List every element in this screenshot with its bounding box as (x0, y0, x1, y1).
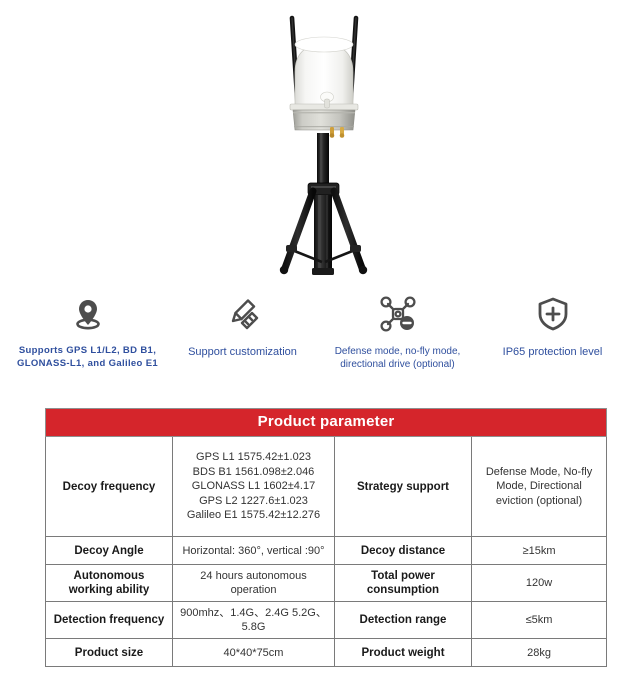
feature-ip65: IP65 protection level (475, 288, 630, 408)
location-pin-icon (66, 292, 110, 336)
feature-label: Supports GPS L1/L2, BD B1, GLONASS-L1, a… (13, 345, 163, 370)
spec-value: 120w (472, 565, 607, 602)
spec-key: Product weight (335, 639, 472, 667)
table-row: Decoy Angle Horizontal: 360°, vertical :… (46, 537, 607, 565)
feature-customization: Support customization (165, 288, 320, 408)
feature-label: Defense mode, no-fly mode, directional d… (323, 345, 473, 371)
tripod-legs (280, 191, 367, 274)
spec-value: 24 hours autonomous operation (173, 565, 335, 602)
spec-key: Total power consumption (335, 565, 472, 602)
table-row: Detection frequency 900mhz、1.4G、2.4G 5.2… (46, 602, 607, 639)
product-parameter-section: Product parameter Decoy frequency GPS L1… (0, 408, 640, 667)
spec-key: Detection frequency (46, 602, 173, 639)
table-row: Autonomous working ability 24 hours auto… (46, 565, 607, 602)
spec-value: ≤5km (472, 602, 607, 639)
spec-value: GPS L1 1575.42±1.023 BDS B1 1561.098±2.0… (173, 437, 335, 537)
spec-key: Decoy Angle (46, 537, 173, 565)
table-row: Decoy frequency GPS L1 1575.42±1.023 BDS… (46, 437, 607, 537)
spec-value: 900mhz、1.4G、2.4G 5.2G、5.8G (173, 602, 335, 639)
product-parameter-table: Product parameter Decoy frequency GPS L1… (45, 408, 607, 667)
spec-key: Decoy distance (335, 537, 472, 565)
radome (290, 37, 358, 138)
feature-label: IP65 protection level (503, 345, 603, 360)
feature-gnss-support: Supports GPS L1/L2, BD B1, GLONASS-L1, a… (10, 288, 165, 408)
spec-key: Decoy frequency (46, 437, 173, 537)
product-image (0, 0, 640, 288)
table-header-row: Product parameter (46, 409, 607, 437)
pen-ruler-customization-icon (221, 292, 265, 336)
shield-plus-protection-icon (531, 292, 575, 336)
spec-key: Detection range (335, 602, 472, 639)
spec-key: Product size (46, 639, 173, 667)
table-title: Product parameter (46, 409, 607, 437)
spec-key: Autonomous working ability (46, 565, 173, 602)
spec-value: 28kg (472, 639, 607, 667)
drone-no-fly-icon (376, 292, 420, 336)
spec-key: Strategy support (335, 437, 472, 537)
product-illustration (0, 0, 640, 288)
feature-defense-modes: Defense mode, no-fly mode, directional d… (320, 288, 475, 408)
spec-value: 40*40*75cm (173, 639, 335, 667)
spec-value: Defense Mode, No-fly Mode, Directional e… (472, 437, 607, 537)
spec-value: ≥15km (472, 537, 607, 565)
table-row: Product size 40*40*75cm Product weight 2… (46, 639, 607, 667)
feature-highlights: Supports GPS L1/L2, BD B1, GLONASS-L1, a… (0, 288, 640, 408)
feature-label: Support customization (188, 345, 297, 360)
spec-value: Horizontal: 360°, vertical :90° (173, 537, 335, 565)
